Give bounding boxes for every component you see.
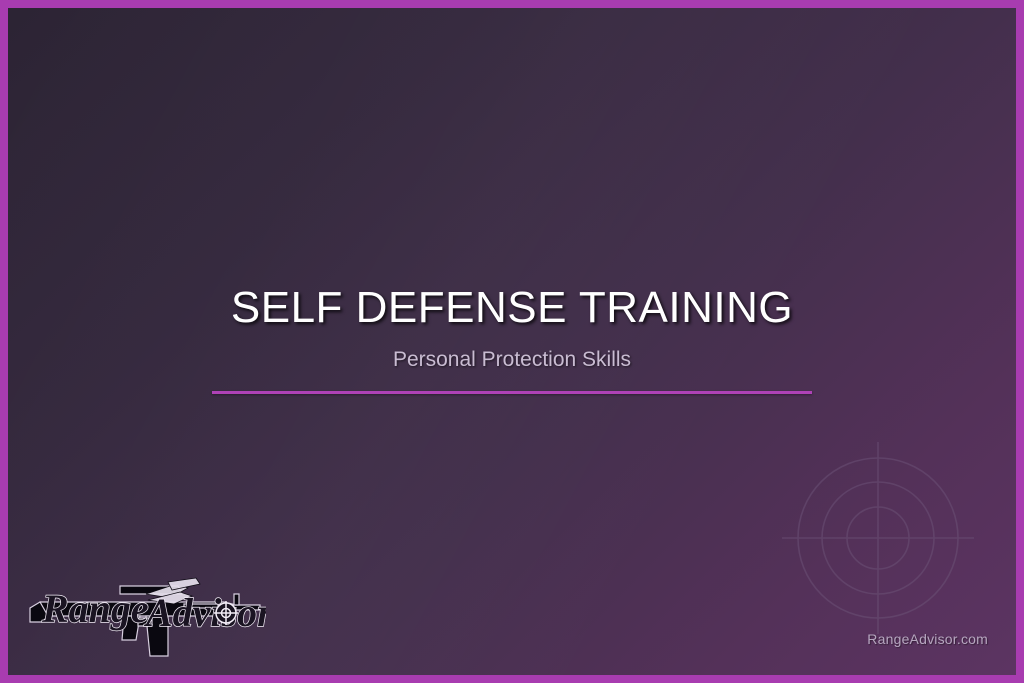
title-block: SELF DEFENSE TRAINING Personal Protectio… [8, 286, 1016, 394]
page-subtitle: Personal Protection Skills [8, 349, 1016, 370]
presentation-slide: SELF DEFENSE TRAINING Personal Protectio… [0, 0, 1024, 683]
logo-text-advisor: Advisor [143, 590, 266, 635]
target-crosshair-icon [770, 430, 986, 646]
site-watermark: RangeAdvisor.com [867, 631, 988, 647]
accent-divider [212, 391, 812, 394]
brand-logo[interactable]: Range Advisor [28, 564, 266, 664]
slide-canvas: SELF DEFENSE TRAINING Personal Protectio… [8, 8, 1016, 675]
page-title: SELF DEFENSE TRAINING [8, 286, 1016, 330]
logo-text-range: Range [41, 586, 149, 631]
